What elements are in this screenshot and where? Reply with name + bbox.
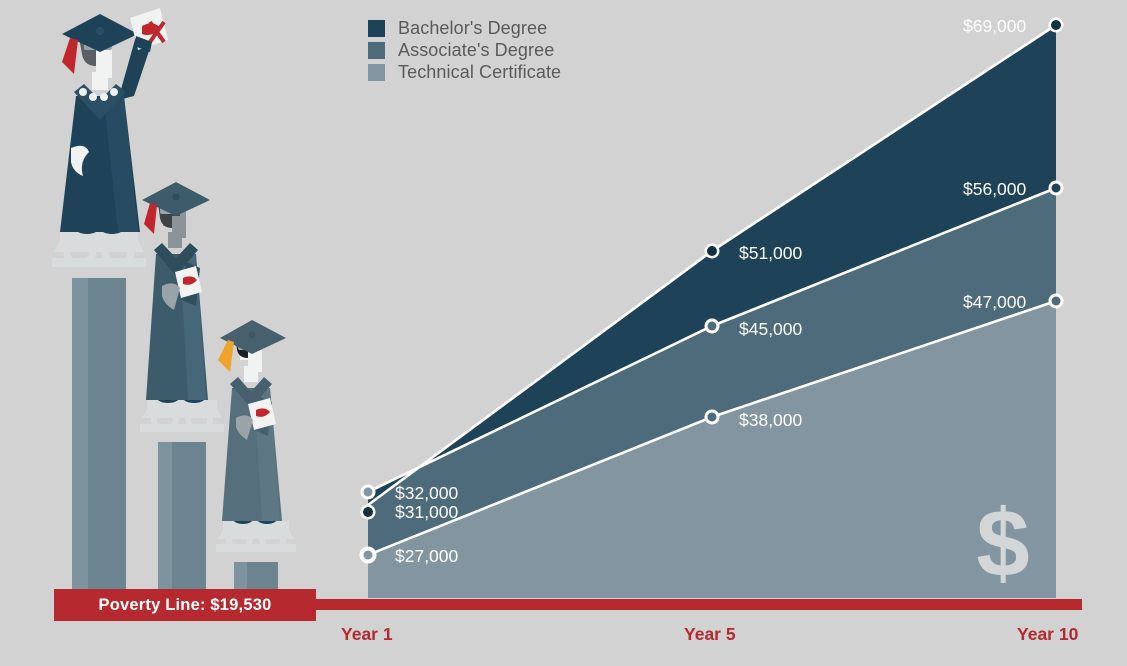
column-certificate (216, 521, 296, 598)
poverty-line-rule (316, 599, 1082, 610)
axis-tick-year-5: Year 5 (684, 624, 736, 645)
legend-swatch-bachelors (368, 20, 385, 37)
chart-plot: $ (361, 18, 1064, 599)
chart-legend: Bachelor's Degree Associate's Degree Tec… (368, 18, 561, 84)
figure-certificate (218, 320, 286, 524)
legend-item-associates: Associate's Degree (368, 40, 561, 61)
label-bachelors-year10: $69,000 (963, 16, 1026, 37)
label-associates-year10: $56,000 (963, 179, 1026, 200)
legend-label-associates: Associate's Degree (398, 40, 554, 61)
legend-swatch-associates (368, 42, 385, 59)
poverty-line-label: Poverty Line: $19,530 (99, 596, 272, 615)
label-associates-year5: $45,000 (739, 319, 802, 340)
dollar-watermark: $ (976, 490, 1029, 597)
label-technical-year10: $47,000 (963, 292, 1026, 313)
infographic-canvas: $ (0, 0, 1127, 666)
graduates-illustration: $ (0, 0, 1127, 666)
legend-label-bachelors: Bachelor's Degree (398, 18, 547, 39)
figure-associates (142, 182, 210, 403)
legend-item-technical: Technical Certificate (368, 62, 561, 83)
label-technical-year5: $38,000 (739, 410, 802, 431)
label-technical-year1: $27,000 (395, 546, 458, 567)
axis-tick-year-1: Year 1 (341, 624, 393, 645)
legend-swatch-technical (368, 64, 385, 81)
label-associates-year1: $32,000 (395, 483, 458, 504)
label-bachelors-year5: $51,000 (739, 243, 802, 264)
legend-label-technical: Technical Certificate (398, 62, 561, 83)
legend-item-bachelors: Bachelor's Degree (368, 18, 561, 39)
poverty-line-banner: Poverty Line: $19,530 (54, 589, 316, 621)
label-bachelors-year1: $31,000 (395, 502, 458, 523)
column-associates (140, 400, 224, 598)
column-bachelors (52, 231, 146, 598)
axis-tick-year-10: Year 10 (1017, 624, 1078, 645)
